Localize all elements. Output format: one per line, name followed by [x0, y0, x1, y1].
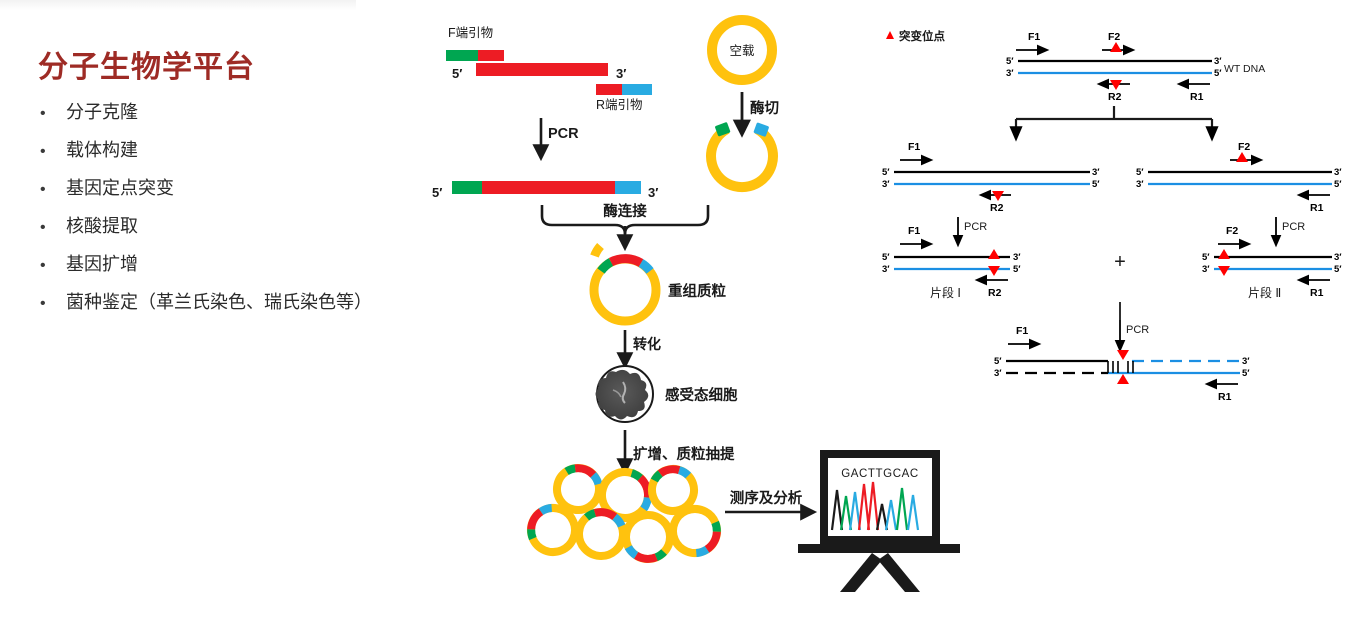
- primer-r1-label: R1: [1218, 391, 1232, 403]
- mutation-triangle-icon: [886, 31, 894, 39]
- mutation-triangle-icon: [1110, 80, 1122, 90]
- primer-r1-label: R1: [1190, 91, 1204, 103]
- plasmid-cluster-item: [625, 514, 671, 560]
- split-bracket: [1016, 106, 1212, 135]
- wt-dna-label: WT DNA: [1224, 63, 1265, 75]
- primer-f1-label: F1: [1016, 325, 1028, 337]
- page-title: 分子生物学平台: [38, 42, 255, 86]
- legend-label: 突变位点: [899, 29, 945, 43]
- insert-red-arc: [611, 259, 641, 263]
- mutation-triangle-icon: [988, 266, 1000, 276]
- template-three-prime-label: 3′: [616, 66, 626, 81]
- empty-vector-label: 空载: [729, 44, 755, 58]
- primer-r1-label: R1: [1310, 202, 1324, 214]
- primer-f2-label: F2: [1108, 31, 1120, 43]
- competent-cells-illustration: [596, 366, 654, 422]
- product-three-prime-label: 3′: [648, 185, 658, 200]
- five-prime-label: 5′: [1214, 68, 1222, 79]
- five-prime-label: 5′: [1334, 179, 1342, 190]
- five-prime-label: 5′: [1092, 179, 1100, 190]
- recombinant-plasmid-label: 重组质粒: [668, 282, 726, 300]
- list-item: •基因扩增: [40, 250, 138, 276]
- mutation-site-legend: 突变位点: [886, 29, 945, 43]
- plasmid-cluster-item: [578, 511, 625, 558]
- mutation-triangle-icon: [1218, 249, 1230, 259]
- mutation-triangle-icon: [988, 249, 1000, 259]
- five-prime-label: 5′: [1013, 264, 1021, 275]
- five-prime-label: 5′: [1202, 252, 1210, 263]
- list-item-label: 载体构建: [66, 140, 138, 160]
- fragment-2-block: F2 PCR 5′ 3′ 3′ 5′ R1 片段 Ⅱ: [1202, 217, 1342, 300]
- primer-f2-label: F2: [1226, 225, 1238, 237]
- primer-r2-label: R2: [990, 202, 1004, 214]
- five-prime-label: 5′: [1006, 56, 1014, 67]
- mutation-triangle-icon: [1110, 42, 1122, 52]
- annealing-hatch-marks: [1108, 361, 1133, 373]
- sequencing-label: 测序及分析: [730, 489, 803, 507]
- pcr-step-label: PCR: [964, 221, 987, 233]
- mutation-triangle-icon: [992, 191, 1004, 201]
- amplify-extract-label: 扩增、质粒抽提: [633, 445, 735, 463]
- mutation-triangle-icon: [1218, 266, 1230, 276]
- five-prime-label: 5′: [994, 356, 1002, 367]
- mutation-triangle-icon: [1117, 374, 1129, 384]
- three-prime-label: 3′: [1136, 179, 1144, 190]
- primer-r2-label: R2: [1108, 91, 1122, 103]
- pcr-step-label: PCR: [548, 126, 579, 142]
- overlap-extension-block: F1 PCR 5′ 3′ 3′ 5′ R1: [994, 320, 1250, 403]
- template-strand: [476, 63, 608, 76]
- primer-f1-label: F1: [1028, 31, 1040, 43]
- r-primer-label: R端引物: [596, 98, 643, 112]
- three-prime-label: 3′: [1202, 264, 1210, 275]
- chromatogram-sequence-label: GACTTGCAC: [841, 468, 919, 480]
- fragment-1-label: 片段 Ⅰ: [930, 285, 961, 300]
- mutation-triangle-icon: [1117, 350, 1129, 360]
- ligation-label: 酶连接: [603, 202, 647, 220]
- left-duplex-block: F1 5′ 3′ 3′ 5′ R2: [882, 141, 1100, 214]
- list-item: •基因定点突变: [40, 174, 174, 200]
- wt-dna-block: F1 F2 5′ 3′ 3′ 5′ WT DNA R2 R1: [1006, 31, 1265, 103]
- mutation-triangle-icon: [1236, 152, 1248, 162]
- three-prime-label: 3′: [1334, 167, 1342, 178]
- three-prime-label: 3′: [1013, 252, 1021, 263]
- three-prime-label: 3′: [1242, 356, 1250, 367]
- three-prime-label: 3′: [1006, 68, 1014, 79]
- bullet-dot-icon: •: [40, 105, 66, 123]
- primer-f2-label: F2: [1238, 141, 1250, 153]
- right-duplex-block: F2 5′ 3′ 3′ 5′ R1: [1136, 141, 1342, 214]
- template-five-prime-label: 5′: [452, 66, 462, 81]
- list-item-label: 菌种鉴定（革兰氏染色、瑞氏染色等）: [66, 292, 372, 312]
- five-prime-label: 5′: [882, 252, 890, 263]
- sequencing-monitor: GACTTGCAC: [798, 450, 960, 592]
- primer-r2-label: R2: [988, 287, 1002, 299]
- list-item-label: 基因定点突变: [66, 178, 174, 198]
- primer-r1-label: R1: [1310, 287, 1324, 299]
- three-prime-label: 3′: [882, 264, 890, 275]
- bullet-dot-icon: •: [40, 295, 66, 313]
- recombinant-plasmid: [594, 246, 656, 321]
- insert-green-arc: [601, 262, 611, 271]
- list-item: •菌种鉴定（革兰氏染色、瑞氏染色等）: [40, 288, 372, 314]
- left-text-panel: 分子生物学平台 •分子克隆 •载体构建 •基因定点突变 •核酸提取 •基因扩增 …: [0, 28, 440, 318]
- top-gradient-band: [0, 0, 356, 10]
- pcr-step-label: PCR: [1126, 324, 1149, 336]
- cloning-workflow-diagram: F端引物 5′ 3′ R端引物 PCR 5′ 3′ 空载 酶切 酶连接 重组质粒…: [420, 0, 960, 600]
- r-primer-red-segment: [596, 84, 622, 95]
- three-prime-label: 3′: [1214, 56, 1222, 67]
- primer-f1-label: F1: [908, 141, 920, 153]
- bullet-dot-icon: •: [40, 181, 66, 199]
- f-primer-label: F端引物: [448, 26, 493, 40]
- three-prime-label: 3′: [882, 179, 890, 190]
- three-prime-label: 3′: [1334, 252, 1342, 263]
- f-primer-green-segment: [446, 50, 478, 61]
- three-prime-label: 3′: [994, 368, 1002, 379]
- product-red-segment: [482, 181, 615, 194]
- list-item: •分子克隆: [40, 98, 138, 124]
- bullet-dot-icon: •: [40, 219, 66, 237]
- fragment-2-label: 片段 Ⅱ: [1248, 285, 1281, 300]
- digestion-label: 酶切: [750, 99, 779, 117]
- product-green-segment: [452, 181, 482, 194]
- product-five-prime-label: 5′: [432, 185, 442, 200]
- plus-sign: +: [1114, 251, 1126, 273]
- competent-cells-label: 感受态细胞: [665, 386, 738, 404]
- bullet-dot-icon: •: [40, 257, 66, 275]
- list-item-label: 核酸提取: [66, 216, 138, 236]
- bullet-dot-icon: •: [40, 143, 66, 161]
- r-primer-blue-segment: [622, 84, 652, 95]
- product-blue-segment: [615, 181, 641, 194]
- list-item-label: 分子克隆: [66, 102, 138, 122]
- five-prime-label: 5′: [1136, 167, 1144, 178]
- five-prime-label: 5′: [1242, 368, 1250, 379]
- site-directed-mutagenesis-diagram: 突变位点 F1 F2 5′ 3′ 3′ 5′ WT DNA R2 R1 F1 5…: [880, 20, 1360, 410]
- five-prime-label: 5′: [882, 167, 890, 178]
- five-prime-label: 5′: [1334, 264, 1342, 275]
- pcr-step-label: PCR: [1282, 221, 1305, 233]
- three-prime-label: 3′: [1092, 167, 1100, 178]
- f-primer-red-segment: [478, 50, 504, 61]
- list-item: •载体构建: [40, 136, 138, 162]
- plasmid-cluster: [524, 464, 723, 560]
- linearized-vector-backbone: [711, 129, 773, 187]
- primer-f1-label: F1: [908, 225, 920, 237]
- list-item-label: 基因扩增: [66, 254, 138, 274]
- transformation-label: 转化: [633, 336, 661, 352]
- list-item: •核酸提取: [40, 212, 138, 238]
- fragment-1-block: F1 PCR 5′ 3′ 3′ 5′ R2 片段 Ⅰ: [882, 217, 1021, 300]
